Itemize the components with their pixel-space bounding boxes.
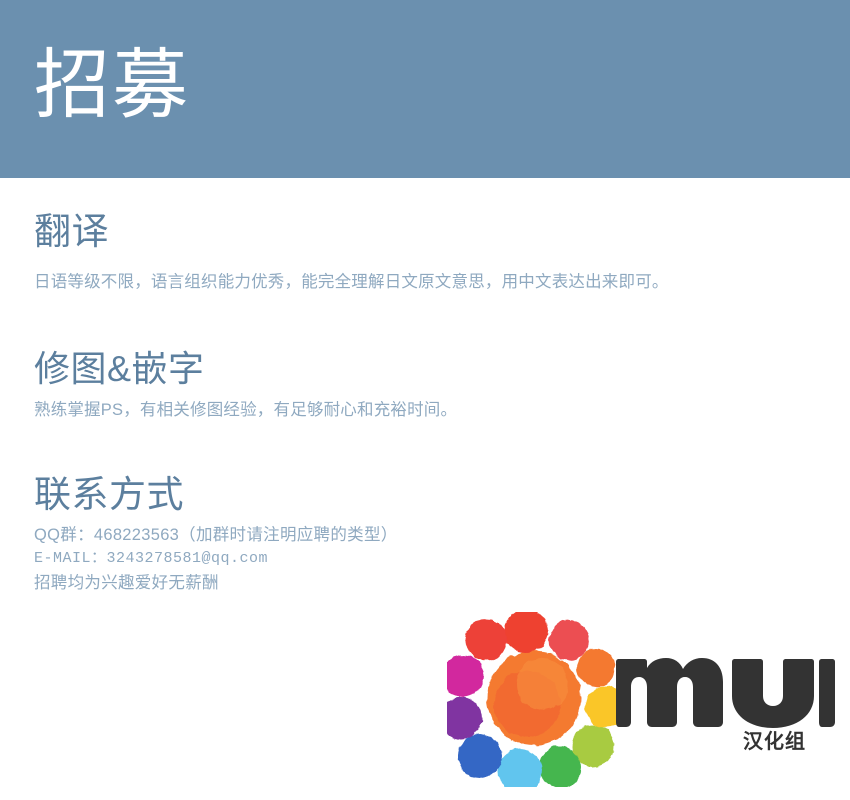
logo-subtitle: 汉化组 (743, 730, 806, 754)
section-body-retouch-typesetting: 熟练掌握PS，有相关修图经验，有足够耐心和充裕时间。 (34, 398, 850, 423)
contact-line-qq-group: QQ群：468223563（加群时请注明应聘的类型） (34, 523, 850, 547)
section-heading-retouch-typesetting: 修图&嵌字 (34, 347, 850, 391)
contact-line-email: E-MAIL：3243278581@qq.com (34, 547, 850, 571)
section-heading-contact: 联系方式 (34, 473, 850, 517)
section-contact: 联系方式 QQ群：468223563（加群时请注明应聘的类型） E-MAIL：3… (0, 473, 850, 595)
page-title: 招募 (34, 38, 190, 134)
logo-color-wheel-icon (447, 612, 627, 787)
section-retouch-typesetting: 修图&嵌字 熟练掌握PS，有相关修图经验，有足够耐心和充裕时间。 (0, 347, 850, 423)
contact-line-note: 招聘均为兴趣爱好无薪酬 (34, 571, 850, 595)
section-heading-translate: 翻译 (34, 210, 850, 254)
main-content: 翻译 日语等级不限，语言组织能力优秀，能完全理解日文原文意思，用中文表达出来即可… (0, 178, 850, 595)
section-translate: 翻译 日语等级不限，语言组织能力优秀，能完全理解日文原文意思，用中文表达出来即可… (0, 210, 850, 295)
contact-lines: QQ群：468223563（加群时请注明应聘的类型） E-MAIL：324327… (34, 523, 850, 595)
section-body-translate: 日语等级不限，语言组织能力优秀，能完全理解日文原文意思，用中文表达出来即可。 (34, 270, 850, 295)
group-logo: 汉化组 (447, 612, 837, 787)
logo-wordmark-mum (614, 656, 836, 730)
header-banner: 招募 (0, 0, 850, 178)
